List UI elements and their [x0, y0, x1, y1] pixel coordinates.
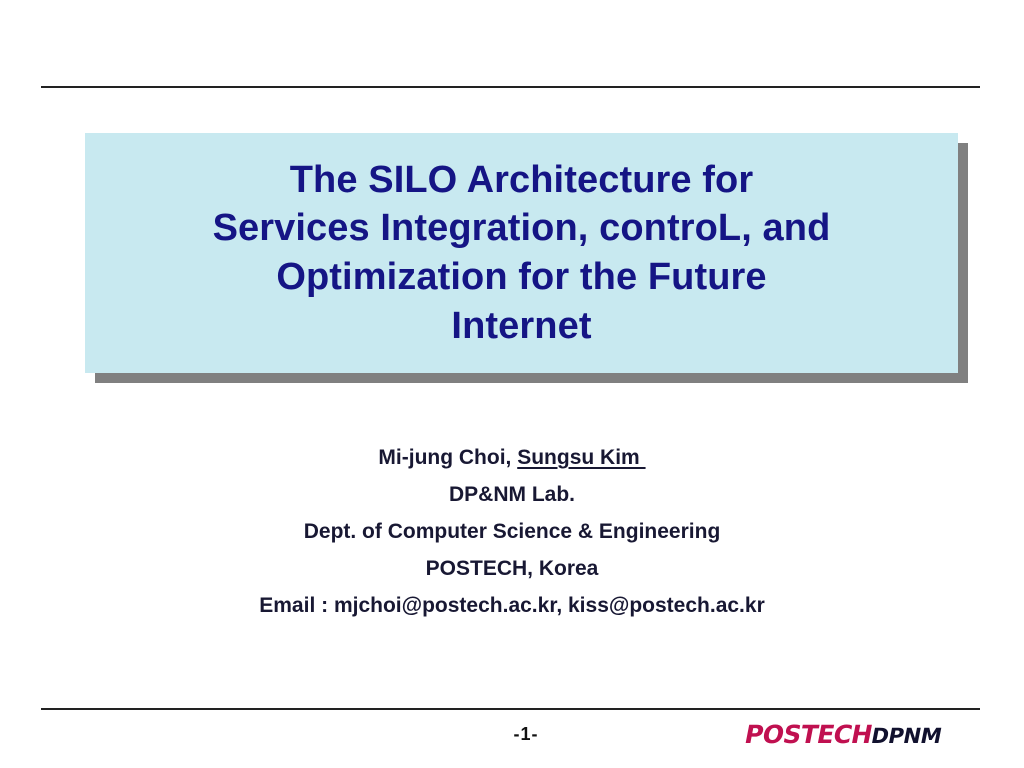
title-line-2: Services Integration, controL, and	[99, 204, 944, 253]
page-number: -1-	[486, 724, 566, 745]
institution-name: POSTECH, Korea	[0, 551, 1024, 588]
title-line-1: The SILO Architecture for	[99, 156, 944, 205]
department-name: Dept. of Computer Science & Engineering	[0, 514, 1024, 551]
logo-dpnm-text: DPNM	[869, 726, 943, 747]
lab-name: DP&NM Lab.	[0, 477, 1024, 514]
slide-canvas: The SILO Architecture for Services Integ…	[0, 0, 1024, 768]
postech-dpnm-logo: POSTECH DPNM	[743, 722, 944, 747]
author-name-first: Mi-jung Choi,	[378, 446, 517, 469]
logo-postech-text: POSTECH	[743, 722, 875, 747]
header-divider	[41, 86, 980, 88]
contact-email: Email : mjchoi@postech.ac.kr, kiss@poste…	[0, 588, 1024, 625]
page-title: The SILO Architecture for Services Integ…	[85, 156, 958, 351]
title-box: The SILO Architecture for Services Integ…	[85, 133, 958, 373]
title-line-4: Internet	[99, 302, 944, 351]
author-names-line: Mi-jung Choi, Sungsu Kim	[0, 440, 1024, 477]
footer-divider	[41, 708, 980, 710]
author-name-presenter: Sungsu Kim	[517, 446, 645, 469]
title-line-3: Optimization for the Future	[99, 253, 944, 302]
author-block: Mi-jung Choi, Sungsu Kim DP&NM Lab. Dept…	[0, 440, 1024, 625]
